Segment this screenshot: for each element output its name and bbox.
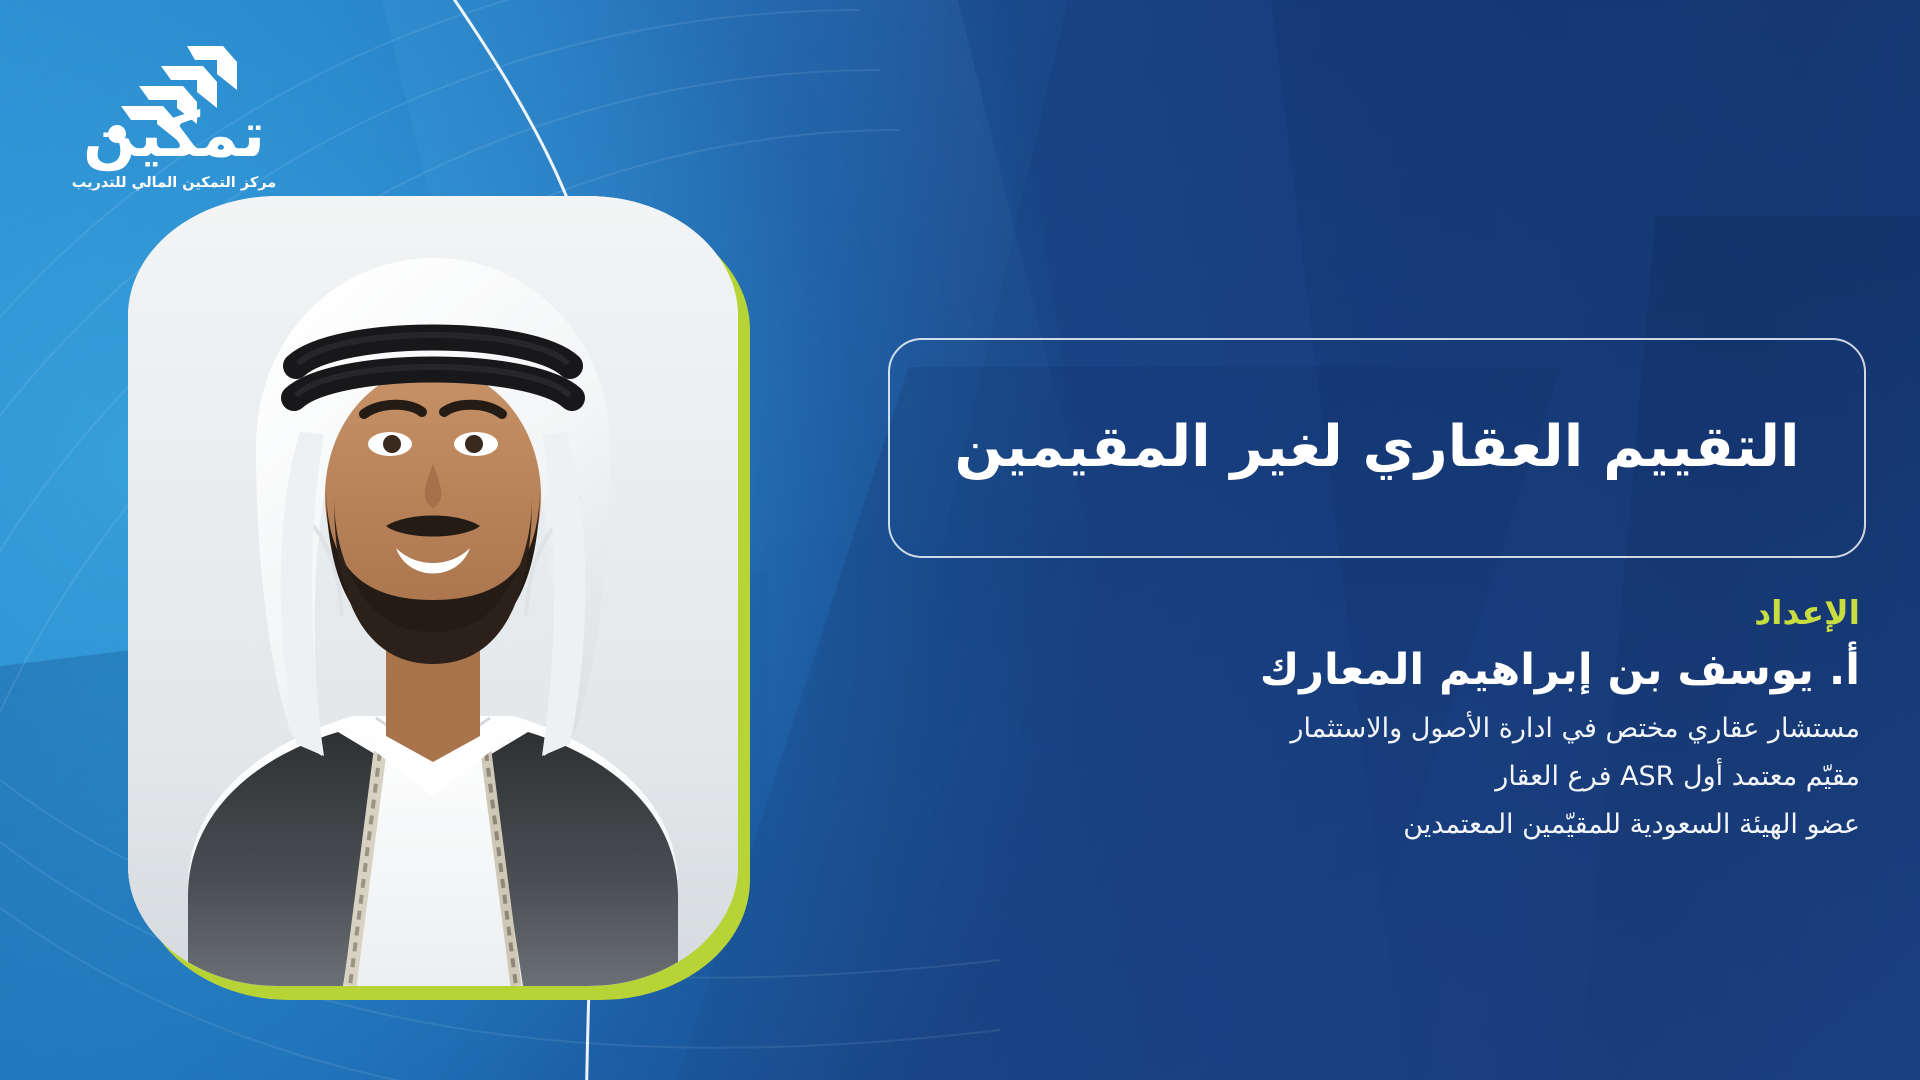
- speaker-portrait: [128, 196, 738, 986]
- portrait-image: [128, 196, 738, 986]
- portrait-frame: [128, 196, 738, 986]
- logo-wordmark: تمكين: [54, 104, 294, 166]
- page-title: التقييم العقاري لغير المقيمين: [920, 412, 1833, 483]
- brand-logo: تمكين مركز التمكين المالي للتدريب: [54, 44, 294, 191]
- slide-title-box: التقييم العقاري لغير المقيمين: [888, 338, 1866, 558]
- presenter-name: أ. يوسف بن إبراهيم المعارك: [900, 645, 1860, 697]
- presenter-credential: مقيّم معتمد أول ASR فرع العقار: [900, 757, 1860, 796]
- presenter-block: الإعداد أ. يوسف بن إبراهيم المعارك مستشا…: [900, 592, 1860, 844]
- presenter-credential: عضو الهيئة السعودية للمقيّمين المعتمدين: [900, 805, 1860, 844]
- logo-tagline: مركز التمكين المالي للتدريب: [54, 176, 294, 191]
- presenter-credential: مستشار عقاري مختص في ادارة الأصول والاست…: [900, 709, 1860, 748]
- presenter-label: الإعداد: [900, 592, 1860, 633]
- presentation-title-slide: تمكين مركز التمكين المالي للتدريب: [0, 0, 1920, 1080]
